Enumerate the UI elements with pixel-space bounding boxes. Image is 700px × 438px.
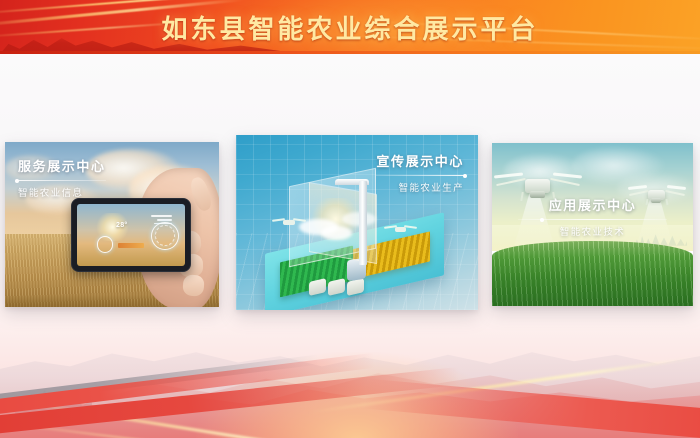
card-service-subtitle: 智能农业信息 <box>18 185 106 199</box>
drone-arm <box>550 178 580 186</box>
hud-chip <box>118 243 144 249</box>
page-title: 如东县智能农业综合展示平台 <box>0 0 700 54</box>
card-application-subtitle: 智能农业技术 <box>492 224 693 238</box>
card-publicity-display-center[interactable]: 宣传展示中心 智能农业生产 <box>236 135 478 310</box>
card-service-text: 服务展示中心 智能农业信息 <box>18 156 106 199</box>
drone <box>386 223 415 235</box>
drone-arm <box>496 178 526 186</box>
card-service-display-center[interactable]: 28° 服务展示中心 智能农业信息 <box>5 142 219 307</box>
hud-bar <box>157 219 172 221</box>
drone-rotor <box>494 172 523 177</box>
card-application-text: 应用展示中心 智能农业技术 <box>492 195 693 238</box>
screen: 如东县智能农业综合展示平台 28° <box>0 0 700 438</box>
drone-body <box>395 227 407 232</box>
temperature-readout: 28° <box>116 222 128 229</box>
hud-bar <box>151 215 173 217</box>
card-application-display-center[interactable]: 应用展示中心 智能农业技术 <box>492 143 693 306</box>
hud-ring <box>97 236 113 252</box>
drone <box>275 216 304 228</box>
card-application-title: 应用展示中心 <box>492 195 693 214</box>
sensor-pole <box>359 181 367 265</box>
drone-body <box>283 220 295 225</box>
title-divider <box>376 175 464 176</box>
drone-rotor <box>627 185 646 189</box>
card-publicity-subtitle: 智能农业生产 <box>376 180 464 194</box>
header-banner: 如东县智能农业综合展示平台 <box>0 0 700 54</box>
smartphone: 28° <box>71 198 191 272</box>
card-service-title: 服务展示中心 <box>18 156 106 175</box>
phone-screen: 28° <box>77 204 185 266</box>
title-divider <box>18 180 106 181</box>
finger <box>188 175 214 212</box>
crop-rows <box>492 241 693 306</box>
card-publicity-title: 宣传展示中心 <box>376 151 464 170</box>
green-field <box>492 241 693 306</box>
cloud <box>321 226 352 240</box>
drone-rotor <box>553 172 582 177</box>
title-divider <box>518 219 667 220</box>
card-publicity-text: 宣传展示中心 智能农业生产 <box>376 151 464 194</box>
drone-rotor <box>667 185 686 189</box>
finger <box>182 274 205 297</box>
